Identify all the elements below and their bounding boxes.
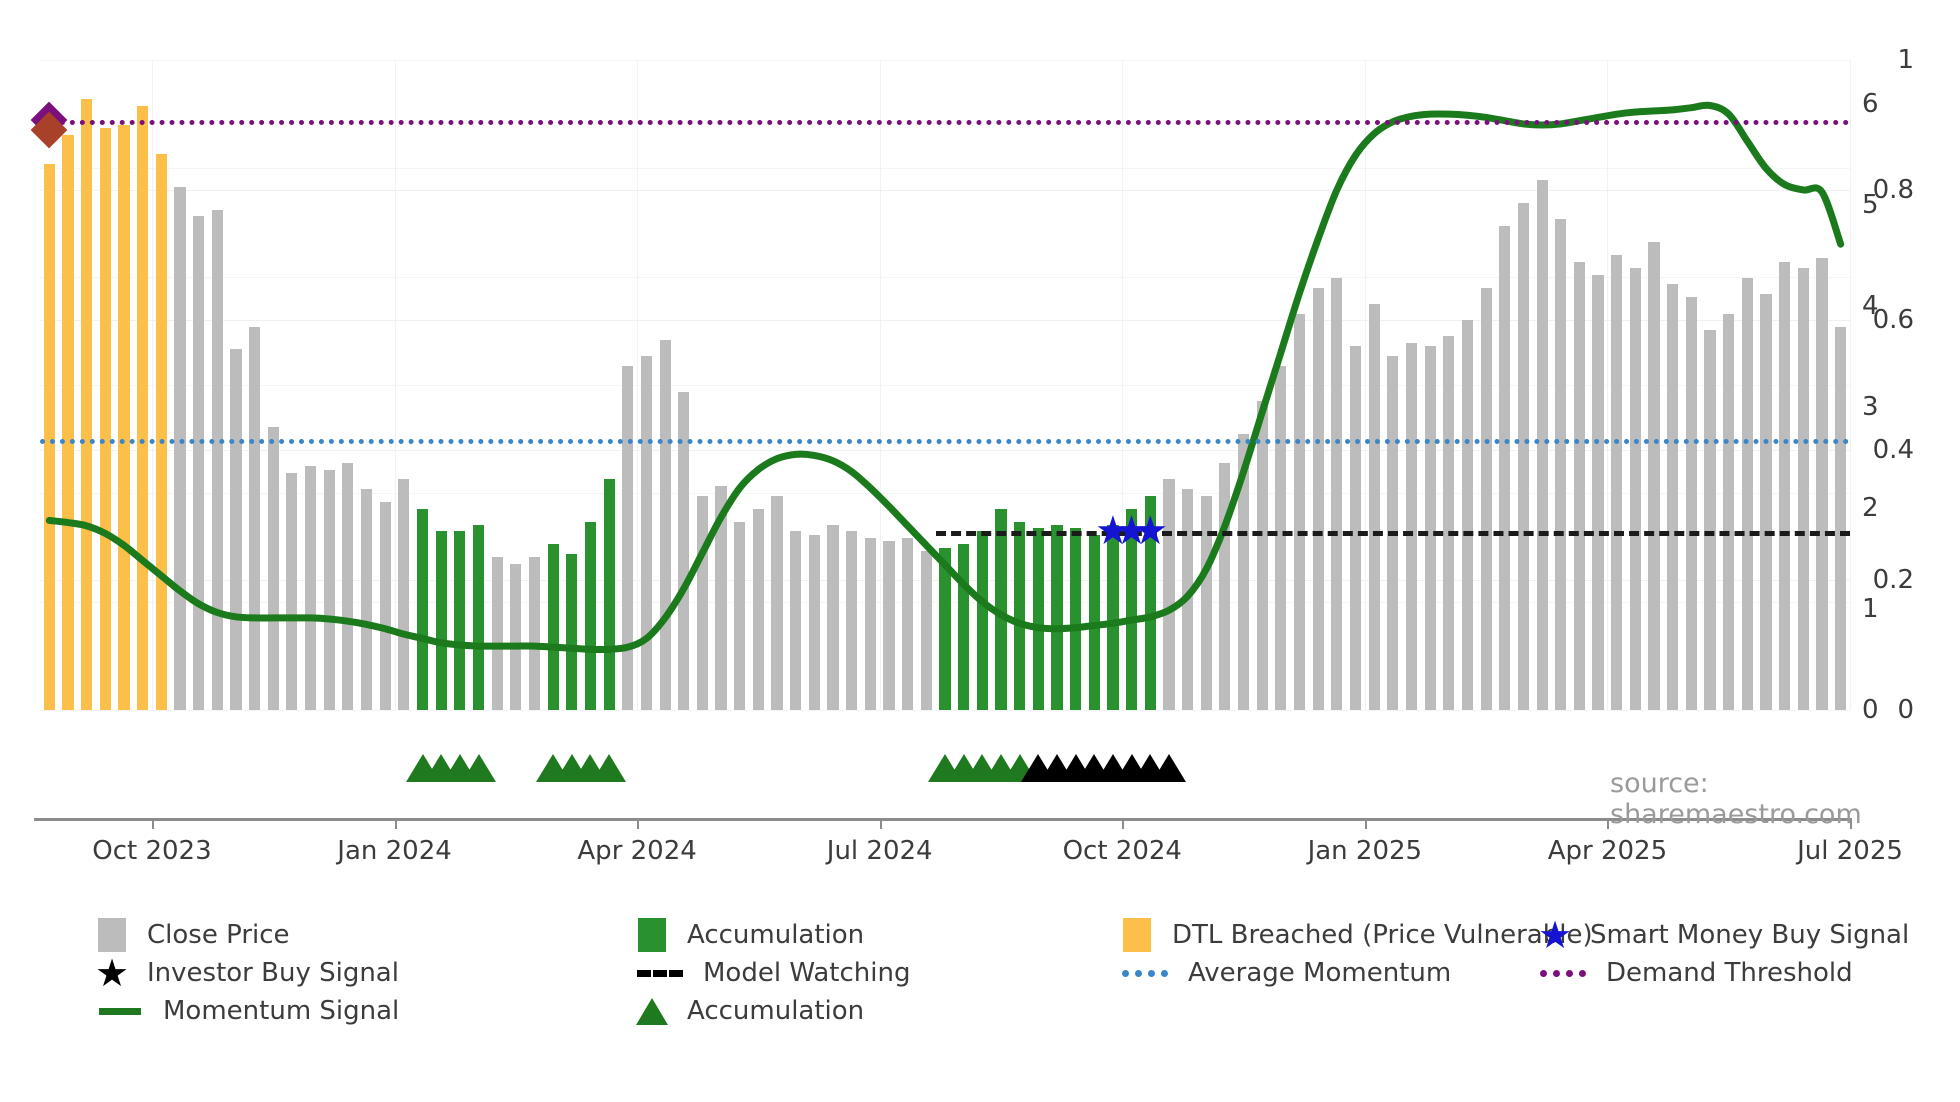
y-right-tick: 2 [1862,493,1879,523]
legend-label: Accumulation [687,920,864,950]
x-axis-tick-mark [880,818,882,829]
investor-buy-star-icon: ★ [95,954,129,992]
demand-threshold-dotted-icon [1538,954,1588,992]
x-axis-tick-mark [395,818,397,829]
legend-label: Momentum Signal [163,996,399,1026]
legend-label: Average Momentum [1188,958,1451,988]
legend-label: Investor Buy Signal [147,958,399,988]
legend-dtl-breached[interactable]: DTL Breached (Price Vulnerable) [1120,916,1593,954]
legend-label: Smart Money Buy Signal [1590,920,1909,950]
accumulation-triangle-icon [462,754,496,782]
accumulation-swatch-icon [635,916,669,954]
legend-demand-threshold[interactable]: Demand Threshold [1538,954,1853,992]
gridline [40,710,1850,711]
threshold-line-demand-threshold [40,120,1850,125]
threshold-line-average-momentum [40,439,1850,444]
y-left-tick: 0.6 [1873,305,1914,335]
legend-label: Model Watching [703,958,910,988]
y-right-tick: 4 [1862,291,1879,321]
chart-legend: Close Price Accumulation DTL Breached (P… [95,916,1895,1030]
legend-momentum-signal[interactable]: Momentum Signal [95,992,399,1030]
legend-label: Accumulation [687,996,864,1026]
y-right-tick: 3 [1862,392,1879,422]
x-axis-tick-label: Oct 2023 [92,836,211,866]
plot-area: ★★★ [40,60,1850,710]
dtl-breached-swatch-icon [1120,916,1154,954]
average-momentum-dotted-icon [1120,954,1170,992]
y-right-tick: 6 [1862,89,1879,119]
momentum-signal-line [40,60,1850,710]
y-left-tick: 0.8 [1873,175,1914,205]
x-axis-tick-label: Apr 2024 [577,836,696,866]
close-price-swatch-icon [95,916,129,954]
x-axis-tick-label: Apr 2025 [1548,836,1667,866]
y-right-tick: 5 [1862,190,1879,220]
legend-label: Demand Threshold [1606,958,1853,988]
legend-label: DTL Breached (Price Vulnerable) [1172,920,1593,950]
legend-smart-money-buy-signal[interactable]: ★ Smart Money Buy Signal [1538,916,1909,954]
x-axis-tick-label: Oct 2024 [1063,836,1182,866]
y-left-tick: 0 [1897,695,1914,725]
y-right-tick: 1 [1862,594,1879,624]
x-axis-tick-mark [1122,818,1124,829]
source-note: source: sharemaestro.com [1610,768,1960,830]
y-left-tick: 1 [1897,45,1914,75]
x-axis-tick-mark [1365,818,1367,829]
accumulation-triangle-icon [635,992,669,1030]
smart-money-buy-signal-star-icon: ★ [1132,511,1168,551]
x-axis-tick-label: Jul 2025 [1797,836,1903,866]
x-axis-tick-mark [637,818,639,829]
x-axis-tick-label: Jan 2024 [337,836,452,866]
y-left-tick: 0.4 [1873,435,1914,465]
x-axis-tick-label: Jul 2024 [827,836,933,866]
accumulation-marker-row [40,742,1850,782]
legend-average-momentum[interactable]: Average Momentum [1120,954,1451,992]
y-right-tick: 0 [1862,695,1879,725]
legend-close-price[interactable]: Close Price [95,916,290,954]
accumulation-triangle-icon [592,754,626,782]
momentum-signal-line-icon [95,992,145,1030]
threshold-line-model-watching [936,531,1850,536]
smart-money-star-icon: ★ [1538,916,1572,954]
legend-investor-buy-signal[interactable]: ★ Investor Buy Signal [95,954,399,992]
model-watching-dash-icon [635,954,685,992]
x-axis-tick-label: Jan 2025 [1308,836,1423,866]
y-left-tick: 0.2 [1873,565,1914,595]
vertical-gridline [1850,60,1851,710]
momentum-accumulation-chart: 0 0.2 0.4 0.6 0.8 1 0 1 2 3 4 5 6 ★★★ Oc… [0,0,1960,1102]
x-axis-line [34,818,1850,821]
legend-label: Close Price [147,920,290,950]
plot-inner: ★★★ [40,60,1850,710]
legend-accumulation-bar[interactable]: Accumulation [635,916,864,954]
x-axis-tick-mark [152,818,154,829]
legend-accumulation-marker[interactable]: Accumulation [635,992,864,1030]
investor-buy-signal-triangle-icon [1152,754,1186,782]
momentum-signal-path [49,105,1840,649]
legend-model-watching[interactable]: Model Watching [635,954,910,992]
